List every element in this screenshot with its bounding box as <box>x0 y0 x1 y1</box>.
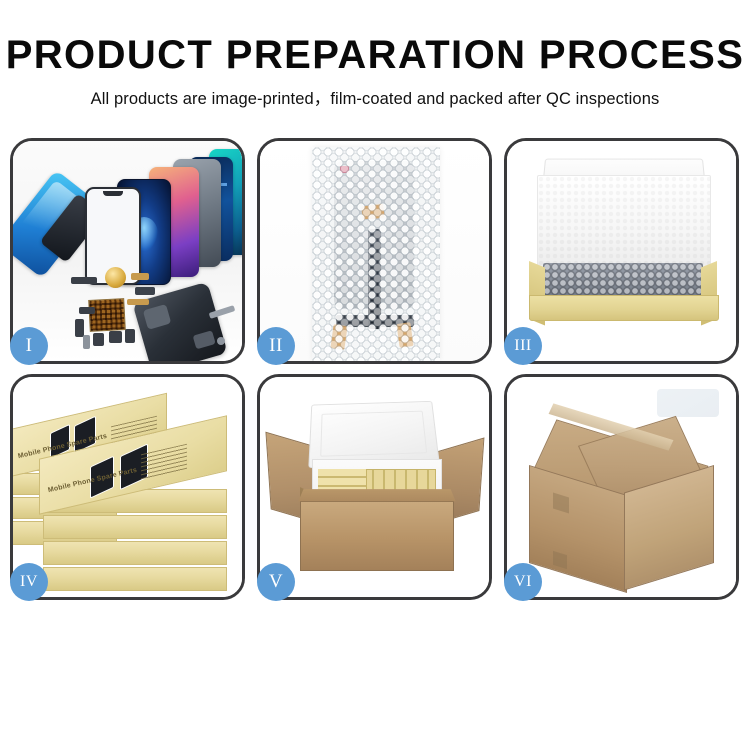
spare-part-icon <box>217 337 225 345</box>
process-step-grid: I II <box>10 138 740 600</box>
bubble-wrap-bag-icon <box>312 147 440 361</box>
step-2-image <box>260 141 489 361</box>
process-step-3[interactable]: III <box>504 138 739 364</box>
step-2-numeral-badge: II <box>257 327 295 365</box>
stacked-box-edge <box>43 541 227 565</box>
connector-grid-part-icon <box>88 298 126 332</box>
process-step-2[interactable]: II <box>257 138 492 364</box>
spare-part-icon <box>71 277 97 284</box>
white-foam-sheet-icon <box>537 175 711 269</box>
step-3-numeral-badge: III <box>504 327 542 365</box>
step-5-numeral-badge: V <box>257 563 295 601</box>
page-subtitle: All products are image-printed，film-coat… <box>0 76 750 109</box>
process-step-6[interactable]: VI <box>504 374 739 600</box>
step-1-image <box>13 141 242 361</box>
step-4-numeral-badge: IV <box>10 563 48 601</box>
plastic-wrap-icon <box>657 389 719 417</box>
step-5-image <box>260 377 489 597</box>
gold-coil-part-icon <box>105 267 126 288</box>
step-4-image: Mobile Phone Spare Parts Mobile Phone Sp… <box>13 377 242 597</box>
spare-part-icon <box>83 335 90 349</box>
step-1-numeral-badge: I <box>10 327 48 365</box>
step-6-numeral-badge: VI <box>504 563 542 601</box>
spare-part-icon <box>135 287 155 295</box>
page-title: PRODUCT PREPARATION PROCESS <box>0 0 750 76</box>
spare-part-icon <box>75 319 84 337</box>
carton-body-icon <box>300 501 454 571</box>
stacked-box-edge <box>43 567 227 591</box>
spare-part-icon <box>93 333 104 346</box>
process-step-1[interactable]: I <box>10 138 245 364</box>
spare-part-icon <box>109 331 122 343</box>
process-step-4[interactable]: Mobile Phone Spare Parts Mobile Phone Sp… <box>10 374 245 600</box>
yellow-box-tray-icon <box>529 295 719 321</box>
spare-part-icon <box>79 307 95 314</box>
spare-part-icon <box>131 273 149 280</box>
step-3-image <box>507 141 736 361</box>
bubble-texture-overlay <box>312 147 440 361</box>
stacked-box-edge <box>43 515 227 539</box>
process-step-5[interactable]: V <box>257 374 492 600</box>
page-header: PRODUCT PREPARATION PROCESS All products… <box>0 0 750 109</box>
step-6-image <box>507 377 736 597</box>
spare-part-icon <box>125 329 135 343</box>
spare-part-icon <box>127 299 149 305</box>
